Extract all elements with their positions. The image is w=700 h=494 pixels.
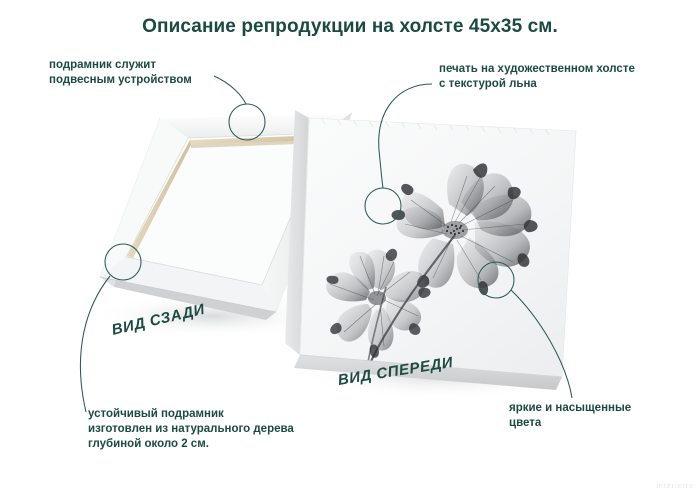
annotation-solid-wooden-stretcher: устойчивый подрамник изготовлен из натур…: [88, 407, 294, 452]
flower-center-lower: [368, 291, 386, 305]
poster-canvas-description: Описание репродукции на холсте 45x35 см.: [0, 0, 700, 494]
watermark: interierro: [656, 483, 694, 490]
annotation-stretcher-hanging: подрамник служит подвесным устройством: [49, 58, 192, 88]
flower-center-upper: [442, 221, 468, 239]
callout-line-stretcher-hanging: [214, 76, 246, 104]
annotation-bright-saturated-colors: яркие и насыщенные цвета: [509, 401, 631, 431]
callout-line-solid-wooden-stretcher: [80, 276, 110, 412]
annotation-canvas-print-linen: печать на художественном холсте с тексту…: [439, 62, 635, 92]
